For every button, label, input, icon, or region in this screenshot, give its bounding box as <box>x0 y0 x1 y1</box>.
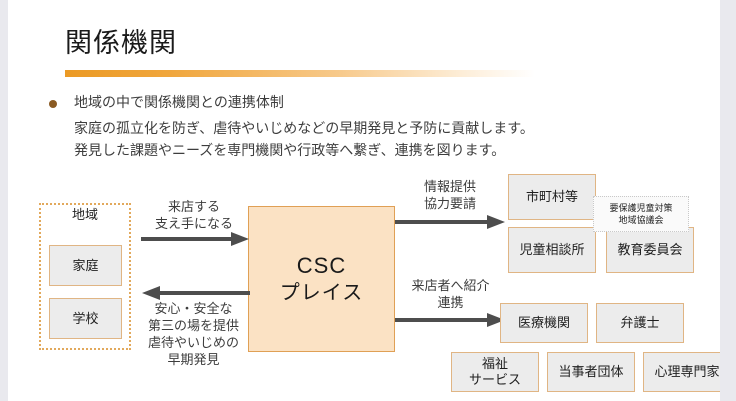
title-underline-rule <box>65 70 535 77</box>
arrow-label-visit: 来店する 支え手になる <box>134 198 254 232</box>
csc-title-line-2: プレイス <box>280 280 363 307</box>
node-gakkou: 学校 <box>49 298 122 339</box>
slide-canvas: 関係機関 地域の中で関係機関との連携体制 家庭の孤立化を防ぎ、虐待やいじめなどの… <box>8 0 720 401</box>
page-title: 関係機関 <box>65 26 177 60</box>
node-bengoshi: 弁護士 <box>596 303 684 343</box>
csc-title-line-1: CSC <box>297 252 346 280</box>
node-toujisha-dantai: 当事者団体 <box>547 352 635 392</box>
arrow-label-safe-place: 安心・安全な 第三の場を提供 虐待やいじめの 早期発見 <box>126 300 261 368</box>
bullet-heading: 地域の中で関係機関との連携体制 <box>74 92 284 113</box>
arrow-csc-to-region-icon <box>140 286 250 300</box>
node-shinri-senmonka: 心理専門家 <box>643 352 720 392</box>
node-csc-place: CSC プレイス <box>248 206 395 352</box>
node-iryou-kikan: 医療機関 <box>500 303 588 343</box>
bullet-line-2: 家庭の孤立化を防ぎ、虐待やいじめなどの早期発見と予防に貢献します。 <box>74 117 534 139</box>
region-label: 地域 <box>39 206 131 224</box>
node-shichoson: 市町村等 <box>508 174 596 220</box>
arrow-csc-to-agencies-icon <box>395 215 505 229</box>
node-fukushi-service: 福祉 サービス <box>451 352 539 392</box>
bullet-marker-icon <box>49 100 57 108</box>
arrow-label-referral: 来店者へ紹介 連携 <box>393 277 508 311</box>
arrow-region-to-csc-icon <box>141 232 249 246</box>
node-kyouiku-iinkai: 教育委員会 <box>606 227 694 273</box>
arrow-label-info-request: 情報提供 協力要請 <box>395 178 505 212</box>
node-jidou-soudanjo: 児童相談所 <box>508 227 596 273</box>
bullet-line-3: 発見した課題やニーズを専門機関や行政等へ繋ぎ、連携を図ります。 <box>74 139 505 161</box>
arrow-csc-to-services-icon <box>395 313 505 327</box>
callout-youhogo-jidou: 要保護児童対策 地域協議会 <box>593 196 689 232</box>
node-katei: 家庭 <box>49 245 122 286</box>
